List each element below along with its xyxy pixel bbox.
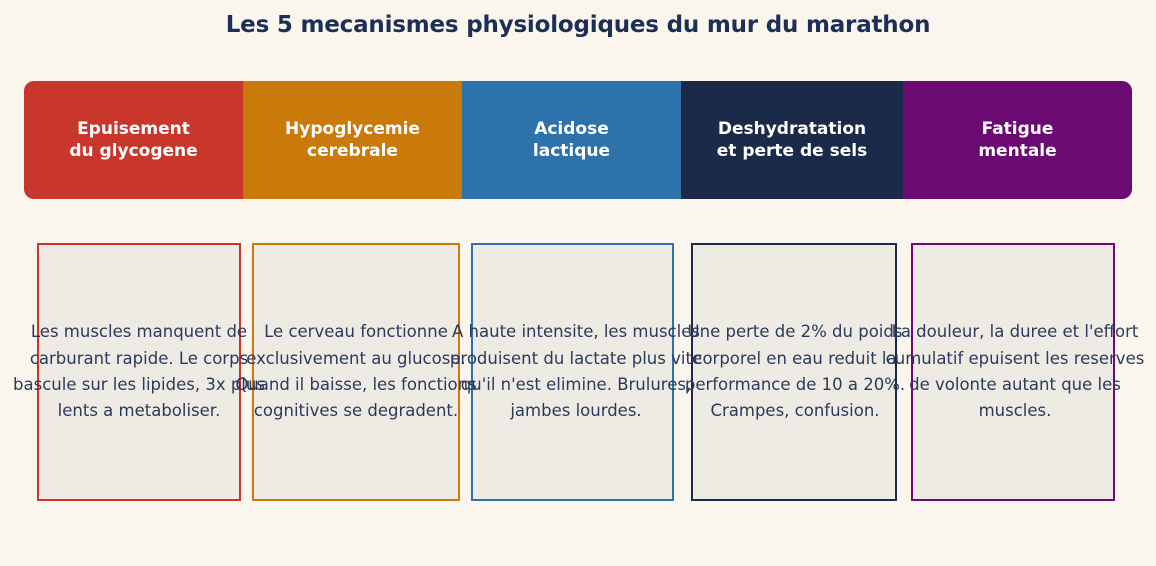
mechanism-detail-box-hypoglycemie-cerebrale <box>252 243 460 501</box>
page-title: Les 5 mecanismes physiologiques du mur d… <box>0 12 1156 38</box>
mechanism-header-fatigue-mentale[interactable]: Fatigue mentale <box>903 81 1132 199</box>
mechanism-detail-box-fatigue-mentale <box>911 243 1115 501</box>
mechanism-header-hypoglycemie-cerebrale[interactable]: Hypoglycemie cerebrale <box>243 81 462 199</box>
mechanism-detail-box-deshydratation-et-perte-de-sels <box>691 243 897 501</box>
mechanism-header-acidose-lactique[interactable]: Acidose lactique <box>462 81 681 199</box>
mechanism-band: Epuisement du glycogene Hypoglycemie cer… <box>24 81 1132 199</box>
mechanism-detail-box-acidose-lactique <box>471 243 674 501</box>
mechanism-header-epuisement-du-glycogene[interactable]: Epuisement du glycogene <box>24 81 243 199</box>
mechanism-header-deshydratation-et-perte-de-sels[interactable]: Deshydratation et perte de sels <box>681 81 903 199</box>
mechanism-detail-row: Les muscles manquent de carburant rapide… <box>0 243 1156 501</box>
mechanism-detail-box-epuisement-du-glycogene <box>37 243 241 501</box>
